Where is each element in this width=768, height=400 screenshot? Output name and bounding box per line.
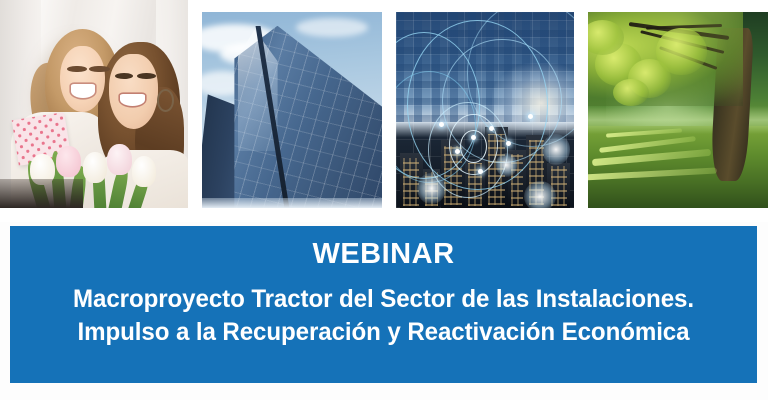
photo-mother-and-daughter-with-tulips bbox=[0, 0, 188, 208]
banner-kicker: WEBINAR bbox=[10, 240, 757, 269]
network-node bbox=[455, 149, 460, 154]
webinar-poster: WEBINAR Macroproyecto Tractor del Sector… bbox=[0, 0, 768, 400]
network-node bbox=[489, 126, 494, 131]
tulip-flower bbox=[132, 156, 156, 187]
mother-smile bbox=[120, 94, 144, 106]
network-node bbox=[439, 122, 444, 127]
photo-sunlit-tree-meadow bbox=[588, 12, 768, 208]
tulip-flower bbox=[107, 144, 131, 175]
webinar-banner: WEBINAR Macroproyecto Tractor del Sector… bbox=[10, 226, 757, 383]
page-title: Macroproyecto Tractor del Sector de las … bbox=[10, 283, 757, 349]
network-node-glow bbox=[496, 153, 517, 177]
network-node bbox=[478, 169, 483, 174]
network-node bbox=[528, 114, 533, 119]
mother-eye-right bbox=[137, 73, 156, 79]
page-title-line-1: Macroproyecto Tractor del Sector de las … bbox=[29, 283, 738, 316]
child-smile bbox=[71, 84, 95, 98]
photo-glass-skyscraper bbox=[202, 12, 382, 208]
network-node-glow bbox=[417, 173, 445, 204]
tulip-flower bbox=[56, 146, 80, 177]
photo-smart-city-network bbox=[396, 12, 574, 208]
network-node-glow bbox=[542, 134, 570, 165]
tree-leaf-cluster bbox=[656, 28, 706, 75]
tulip-flower bbox=[83, 152, 107, 183]
network-node-glow bbox=[524, 181, 556, 208]
page-title-line-2: Impulso a la Recuperación y Reactivación… bbox=[29, 316, 738, 349]
photo1-foreground-shadow bbox=[0, 179, 83, 208]
tree-leaf-cluster bbox=[613, 79, 649, 106]
mother-face bbox=[109, 54, 158, 129]
photo2-base-haze bbox=[202, 198, 382, 208]
photo-strip bbox=[0, 0, 768, 222]
